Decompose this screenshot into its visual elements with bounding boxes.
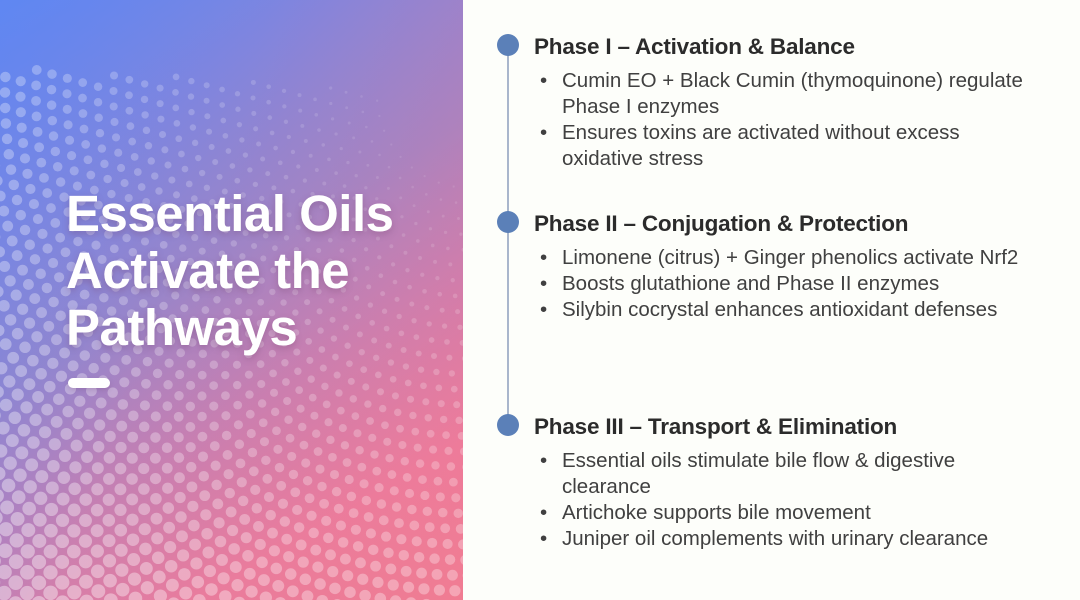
list-item: •Silybin cocrystal enhances antioxidant …	[534, 297, 1034, 323]
phase-marker-icon	[497, 34, 519, 56]
list-item: •Juniper oil complements with urinary cl…	[534, 526, 1034, 552]
bullet-text: Juniper oil complements with urinary cle…	[562, 527, 988, 550]
title-panel: Essential Oils Activate the Pathways	[0, 0, 463, 600]
phase-marker-icon	[497, 211, 519, 233]
bullet-dot-icon: •	[540, 271, 547, 297]
list-item: •Limonene (citrus) + Ginger phenolics ac…	[534, 245, 1034, 271]
list-item: •Cumin EO + Black Cumin (thymoquinone) r…	[534, 68, 1034, 120]
bullet-text: Artichoke supports bile movement	[562, 501, 871, 524]
phase-heading: Phase I – Activation & Balance	[534, 34, 855, 60]
list-item: •Essential oils stimulate bile flow & di…	[534, 448, 1034, 500]
title-underline-rule	[68, 378, 110, 388]
phase-heading: Phase II – Conjugation & Protection	[534, 211, 908, 237]
phase-marker-icon	[497, 414, 519, 436]
bullet-dot-icon: •	[540, 68, 547, 94]
content-panel: Phase I – Activation & Balance•Cumin EO …	[463, 0, 1080, 600]
page-title: Essential Oils Activate the Pathways	[66, 185, 446, 356]
phase-bullet-list: •Limonene (citrus) + Ginger phenolics ac…	[534, 245, 1034, 323]
title-line-3: Pathways	[66, 299, 446, 356]
bullet-text: Cumin EO + Black Cumin (thymoquinone) re…	[562, 69, 1023, 118]
bullet-text: Essential oils stimulate bile flow & dig…	[562, 449, 955, 498]
bullet-text: Silybin cocrystal enhances antioxidant d…	[562, 298, 997, 321]
bullet-text: Ensures toxins are activated without exc…	[562, 121, 960, 170]
list-item: •Ensures toxins are activated without ex…	[534, 120, 1034, 172]
bullet-text: Limonene (citrus) + Ginger phenolics act…	[562, 246, 1018, 269]
list-item: •Boosts glutathione and Phase II enzymes	[534, 271, 1034, 297]
bullet-dot-icon: •	[540, 500, 547, 526]
phase-bullet-list: •Cumin EO + Black Cumin (thymoquinone) r…	[534, 68, 1034, 172]
title-line-2: Activate the	[66, 242, 446, 299]
bullet-dot-icon: •	[540, 120, 547, 146]
timeline-connector-line	[507, 45, 509, 427]
phase-bullet-list: •Essential oils stimulate bile flow & di…	[534, 448, 1034, 552]
bullet-dot-icon: •	[540, 297, 547, 323]
phase-heading: Phase III – Transport & Elimination	[534, 414, 897, 440]
bullet-dot-icon: •	[540, 245, 547, 271]
bullet-text: Boosts glutathione and Phase II enzymes	[562, 272, 939, 295]
slide: Essential Oils Activate the Pathways Pha…	[0, 0, 1080, 600]
bullet-dot-icon: •	[540, 526, 547, 552]
bullet-dot-icon: •	[540, 448, 547, 474]
list-item: •Artichoke supports bile movement	[534, 500, 1034, 526]
title-line-1: Essential Oils	[66, 185, 446, 242]
